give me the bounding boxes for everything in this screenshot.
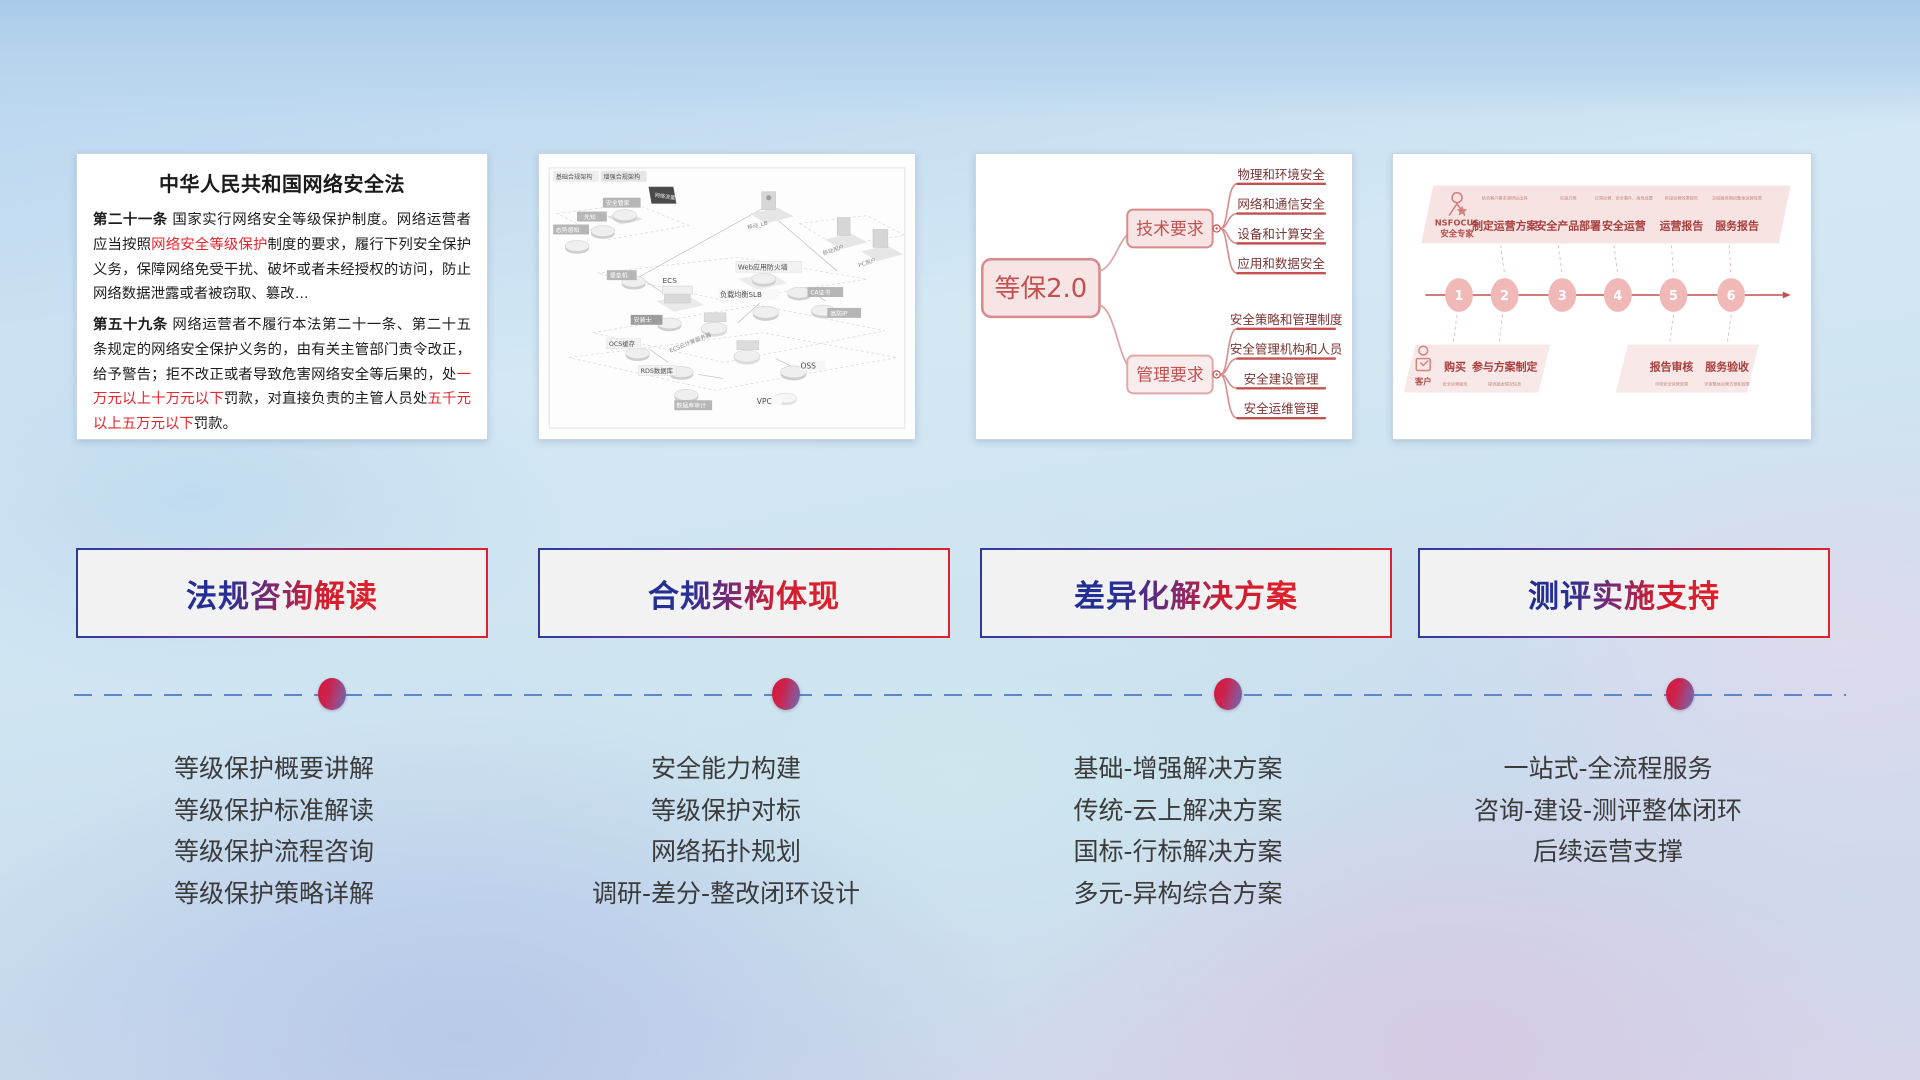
headline-label: 合规架构体现 (648, 571, 840, 616)
svg-text:OCS缓存: OCS缓存 (609, 339, 636, 348)
svg-text:客户: 客户 (1414, 376, 1432, 386)
svg-text:管理要求: 管理要求 (1136, 364, 1204, 384)
svg-text:1: 1 (1455, 289, 1464, 304)
background-top-band (0, 0, 1920, 120)
svg-text:负载均衡SLB: 负载均衡SLB (720, 290, 762, 299)
mindmap-leaf: 安全管理机构和人员 (1230, 342, 1343, 357)
proc-step-title: 报告审核 (1650, 359, 1694, 373)
mindmap-branch-technical: 技术要求 (1127, 210, 1220, 248)
detail-list-regulation-consulting: 等级保护概要讲解等级保护标准解读等级保护流程咨询等级保护策略详解 (64, 748, 484, 914)
proc-step-title: 服务验收 (1705, 359, 1749, 373)
svg-text:RDS数据库: RDS数据库 (641, 366, 674, 375)
cloud-architecture-diagram: 基础合规架构 增强合规架构 网络流量 (539, 154, 915, 439)
law-text: 罚款，对直接负责的主管人员处 (224, 391, 428, 407)
svg-text:高防IP: 高防IP (830, 309, 848, 317)
timeline-dot-2[interactable] (772, 678, 800, 710)
detail-list-item: 基础-增强解决方案 (968, 748, 1388, 790)
mindmap-leaf: 安全建设管理 (1244, 371, 1320, 386)
law-card-title: 中华人民共和国网络安全法 (93, 168, 471, 197)
proc-step-title: 安全产品部署 (1536, 218, 1602, 232)
detail-list-differentiated-solutions: 基础-增强解决方案传统-云上解决方案国标-行标解决方案多元-异构综合方案 (968, 748, 1388, 914)
detail-list-item: 后续运营支撑 (1398, 831, 1818, 873)
proc-step-sub: 阶段运营效果报告 (1665, 195, 1698, 201)
law-paragraph: 第五十九条 网络运营者不履行本法第二十一条、第二十五条规定的网络安全保护义务的，… (93, 313, 471, 437)
timeline-dot-4[interactable] (1666, 678, 1694, 710)
headline-label: 法规咨询解读 (186, 571, 378, 616)
mindmap-branch-management: 管理要求 (1127, 356, 1220, 394)
service-process-timeline: NSFOCUS 安全专家 结合客户需求调研后出具 制定运营方案 实施方案 安全产… (1393, 154, 1811, 439)
arch-traffic-banner: 网络流量 (649, 187, 677, 204)
svg-text:数据库审计: 数据库审计 (676, 402, 706, 410)
svg-text:技术要求: 技术要求 (1136, 218, 1204, 238)
mindmap-leaf: 安全策略和管理制度 (1230, 312, 1343, 327)
detail-list-item: 等级保护流程咨询 (64, 831, 484, 873)
detail-list-item: 国标-行标解决方案 (968, 831, 1388, 873)
headline-box-differentiated-solutions[interactable]: 差异化解决方案 (980, 548, 1392, 638)
svg-text:4: 4 (1613, 289, 1622, 304)
detail-list-item: 等级保护概要讲解 (64, 748, 484, 790)
detail-list-item: 等级保护标准解读 (64, 790, 484, 832)
detail-list-item: 一站式-全流程服务 (1398, 748, 1818, 790)
law-text: 罚款。 (194, 416, 237, 432)
proc-step-title: 安全运营 (1602, 218, 1646, 232)
proc-step-sub: 评审安全运营效果 (1655, 380, 1688, 386)
svg-text:Web应用防火墙: Web应用防火墙 (738, 262, 788, 271)
detail-list-evaluation-support: 一站式-全流程服务咨询-建设-测评整体闭环后续运营支撑 (1398, 748, 1818, 873)
svg-text:先知: 先知 (584, 213, 596, 221)
thumbnail-card-service-process[interactable]: NSFOCUS 安全专家 结合客户需求调研后出具 制定运营方案 实施方案 安全产… (1392, 153, 1812, 440)
proc-step-sub: 提供基本情况信息 (1488, 380, 1521, 386)
proc-top-banner (1421, 186, 1790, 244)
timeline-dot-3[interactable] (1214, 678, 1242, 710)
proc-step-sub: 总结服务期间整体运营效果 (1712, 195, 1762, 201)
headline-box-compliance-architecture[interactable]: 合规架构体现 (538, 548, 950, 638)
svg-text:2: 2 (1500, 289, 1509, 304)
proc-step-sub: 安全运营服务 (1443, 380, 1468, 386)
svg-text:5: 5 (1669, 289, 1678, 304)
svg-text:等保2.0: 等保2.0 (995, 274, 1088, 304)
detail-list-item: 安全能力构建 (516, 748, 936, 790)
svg-text:安全专家: 安全专家 (1440, 228, 1474, 238)
svg-text:CA证书: CA证书 (810, 288, 830, 296)
thumbnail-card-compliance-architecture[interactable]: 基础合规架构 增强合规架构 网络流量 (538, 153, 916, 440)
headline-label: 测评实施支持 (1528, 571, 1720, 616)
svg-text:安全管家: 安全管家 (606, 199, 630, 207)
law-paragraph: 第二十一条 国家实行网络安全等级保护制度。网络运营者应当按照网络安全等级保护制度… (93, 208, 471, 307)
proc-step-title: 制定运营方案 (1472, 218, 1539, 232)
svg-text:堡垒机: 堡垒机 (610, 272, 628, 280)
svg-text:6: 6 (1727, 289, 1736, 304)
thumbnail-card-cybersecurity-law[interactable]: 中华人民共和国网络安全法 第二十一条 国家实行网络安全等级保护制度。网络运营者应… (76, 153, 488, 440)
law-highlight: 网络安全等级保护 (151, 237, 267, 253)
mindmap-leaf: 网络和通信安全 (1237, 197, 1325, 212)
proc-step-title: 参与方案制定 (1472, 359, 1538, 373)
law-article-number: 第二十一条 (93, 212, 168, 228)
mindmap-leaf: 安全运维管理 (1244, 401, 1320, 416)
detail-list-item: 多元-异构综合方案 (968, 873, 1388, 915)
svg-text:3: 3 (1558, 289, 1567, 304)
detail-list-item: 等级保护对标 (516, 790, 936, 832)
mindmap-root-node: 等保2.0 (982, 259, 1099, 317)
proc-step-title: 运营报告 (1660, 218, 1704, 232)
proc-step-sub: 日常运营、安全事件、高危处置 (1595, 195, 1653, 201)
mindmap-leaf: 物理和环境安全 (1237, 167, 1325, 182)
proc-step-sub: 评审整体运营方案和效果 (1704, 380, 1750, 386)
headline-box-evaluation-support[interactable]: 测评实施支持 (1418, 548, 1830, 638)
svg-text:OSS: OSS (800, 361, 816, 370)
headline-box-regulation-consulting[interactable]: 法规咨询解读 (76, 548, 488, 638)
arch-tab-basic[interactable]: 基础合规架构 (556, 173, 593, 181)
law-card-body: 第二十一条 国家实行网络安全等级保护制度。网络运营者应当按照网络安全等级保护制度… (93, 208, 471, 437)
timeline-dot-1[interactable] (318, 678, 346, 710)
proc-step-sub: 结合客户需求调研后出具 (1482, 195, 1528, 201)
detail-list-item: 网络拓扑规划 (516, 831, 936, 873)
thumbnail-card-dengbao-mindmap[interactable]: 等保2.0 技术要求 物理和环境安全 网络和通信安全 (975, 153, 1353, 440)
detail-list-item: 调研-差分-整改闭环设计 (516, 873, 936, 915)
svg-text:态势感知: 态势感知 (556, 226, 580, 234)
proc-step-sub: 实施方案 (1560, 195, 1577, 201)
arch-tab-enhanced[interactable]: 增强合规架构 (603, 173, 640, 181)
svg-text:VPC: VPC (757, 397, 772, 406)
timeline-track (74, 694, 1846, 696)
law-article-number: 第五十九条 (93, 317, 168, 333)
detail-list-item: 传统-云上解决方案 (968, 790, 1388, 832)
dengbao-mind-map: 等保2.0 技术要求 物理和环境安全 网络和通信安全 (976, 154, 1352, 439)
mindmap-leaf: 应用和数据安全 (1237, 256, 1325, 271)
proc-step-title: 购买 (1444, 359, 1466, 373)
headline-label: 差异化解决方案 (1074, 571, 1298, 616)
svg-text:ECS: ECS (662, 276, 677, 285)
detail-list-item: 等级保护策略详解 (64, 873, 484, 915)
proc-step-title: 服务报告 (1715, 218, 1759, 232)
detail-list-item: 咨询-建设-测评整体闭环 (1398, 790, 1818, 832)
detail-list-compliance-architecture: 安全能力构建等级保护对标网络拓扑规划调研-差分-整改闭环设计 (516, 748, 936, 914)
svg-text:安骑士: 安骑士 (634, 316, 652, 324)
mindmap-leaf: 设备和计算安全 (1237, 226, 1325, 241)
